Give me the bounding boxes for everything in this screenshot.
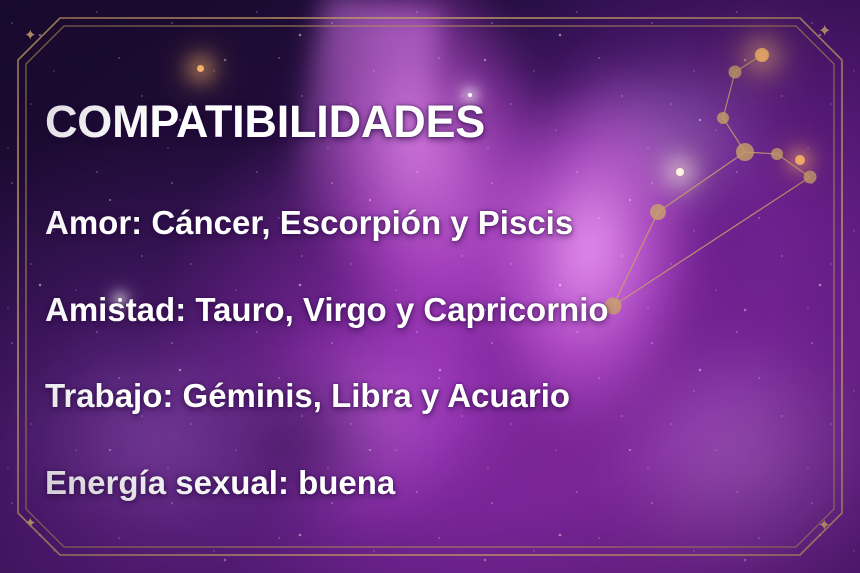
compatibility-line-amor: Amor: Cáncer, Escorpión y Piscis <box>45 204 573 242</box>
card-text-content: COMPATIBILIDADES Amor: Cáncer, Escorpión… <box>45 0 825 573</box>
compatibility-line-amistad: Amistad: Tauro, Virgo y Capricornio <box>45 291 609 329</box>
sparkle-icon: ✦ <box>24 516 37 531</box>
page-title: COMPATIBILIDADES <box>45 96 485 148</box>
compatibility-line-energia: Energía sexual: buena <box>45 464 395 502</box>
sparkle-icon: ✦ <box>24 28 37 43</box>
compatibility-line-trabajo: Trabajo: Géminis, Libra y Acuario <box>45 377 570 415</box>
horoscope-compatibility-card: ✦ ✦ ✦ ✦ COMPATIBILIDADES Amor: Cáncer, E… <box>0 0 860 573</box>
